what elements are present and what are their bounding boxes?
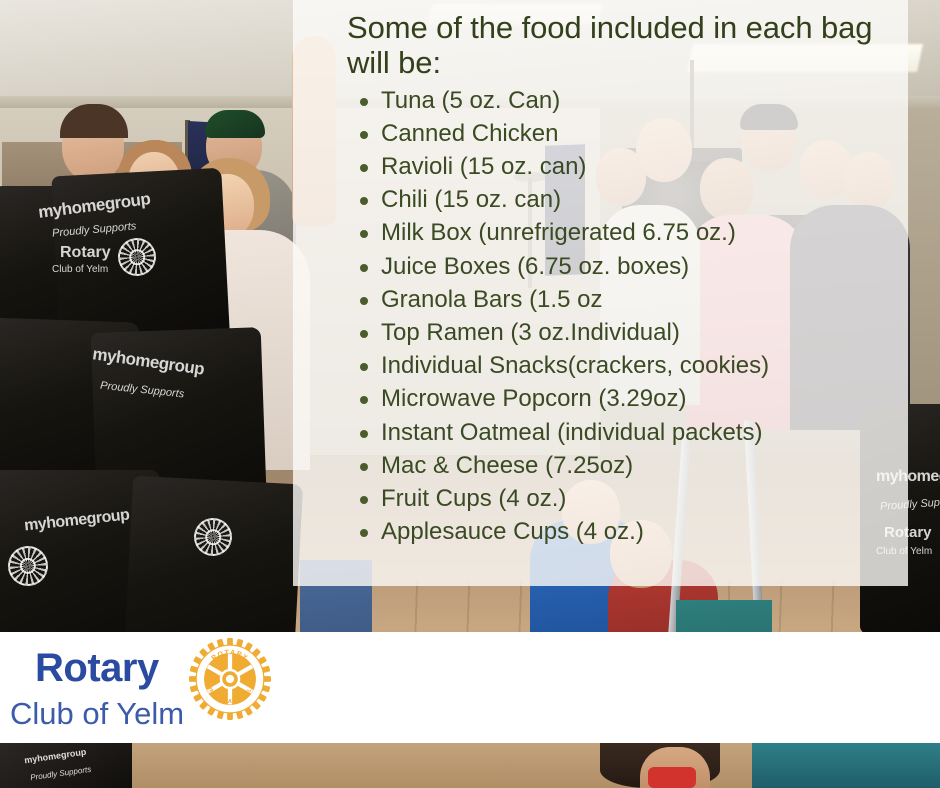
rotary-gear-icon: ROTARY INTERNATIONAL (189, 638, 271, 720)
bag-rotary-wheel-icon (118, 238, 156, 276)
list-item: Individual Snacks(crackers, cookies) (381, 349, 894, 382)
list-item: Fruit Cups (4 oz.) (381, 482, 894, 515)
list-item: Tuna (5 oz. Can) (381, 84, 894, 117)
cap-green (205, 110, 265, 138)
list-item: Canned Chicken (381, 117, 894, 150)
list-item: Mac & Cheese (7.25oz) (381, 449, 894, 482)
list-item: Juice Boxes (6.75 oz. boxes) (381, 250, 894, 283)
list-item: Instant Oatmeal (individual packets) (381, 416, 894, 449)
food-list-panel: Some of the food included in each bag wi… (293, 0, 908, 586)
teal-chair (752, 743, 940, 788)
list-item: Chili (15 oz. can) (381, 183, 894, 216)
food-items-list: Tuna (5 oz. Can) Canned Chicken Ravioli … (347, 84, 894, 549)
page-title: Some of the food included in each bag wi… (347, 10, 894, 81)
list-item: Ravioli (15 oz. can) (381, 150, 894, 183)
rotary-wheel-logo: ROTARY INTERNATIONAL (189, 638, 271, 720)
bag-rotary-wheel-icon (8, 546, 48, 586)
list-item: Applesauce Cups (4 oz.) (381, 515, 894, 548)
rotary-food-bag-flyer: myhomegroup Proudly Supports Rotary Club… (0, 0, 940, 788)
list-item: Milk Box (unrefrigerated 6.75 oz.) (381, 216, 894, 249)
list-item: Microwave Popcorn (3.29oz) (381, 382, 894, 415)
bottom-photo-strip: myhomegroup Proudly Supports (0, 743, 940, 788)
brand-club-text: Club of Yelm (10, 696, 184, 732)
brand-rotary-text: Rotary (35, 646, 159, 691)
red-shoe (648, 767, 696, 788)
club-branding: Rotary Club of Yelm (0, 632, 552, 743)
bag-rotary-wheel-icon (194, 518, 232, 556)
list-item: Top Ramen (3 oz.Individual) (381, 316, 894, 349)
club-banner: Rotary Club of Yelm PEOPLE OF ACTION yel… (0, 632, 940, 743)
list-item: Granola Bars (1.5 oz (381, 283, 894, 316)
